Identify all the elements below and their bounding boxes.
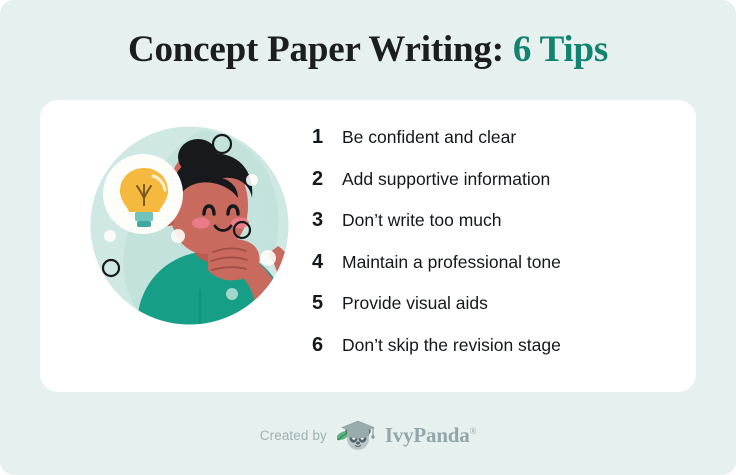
tip-number: 6: [312, 334, 342, 357]
poster-canvas: Concept Paper Writing: 6 Tips: [0, 0, 736, 475]
panda-graduate-icon: [336, 418, 376, 452]
brand-name: IvyPanda®: [385, 423, 476, 448]
tip-label: Don’t skip the revision stage: [342, 335, 561, 356]
list-item: 5 Provide visual aids: [312, 292, 682, 334]
tip-label: Provide visual aids: [342, 293, 488, 314]
tips-list: 1 Be confident and clear 2 Add supportiv…: [312, 126, 682, 375]
tip-label: Add supportive information: [342, 169, 550, 190]
content-card: 1 Be confident and clear 2 Add supportiv…: [40, 100, 696, 392]
tip-number: 2: [312, 168, 342, 191]
tip-label: Don’t write too much: [342, 210, 502, 231]
page-title: Concept Paper Writing: 6 Tips: [0, 28, 736, 71]
tip-label: Maintain a professional tone: [342, 252, 561, 273]
tip-number: 3: [312, 209, 342, 232]
brand-name-text: IvyPanda: [385, 423, 470, 447]
created-by-label: Created by: [260, 428, 327, 443]
tip-number: 4: [312, 251, 342, 274]
thinking-person-illustration: [82, 118, 297, 333]
list-item: 3 Don’t write too much: [312, 209, 682, 251]
thinking-person-with-lightbulb-icon: [82, 118, 297, 333]
page-title-main: Concept Paper Writing:: [128, 29, 504, 70]
tip-number: 5: [312, 292, 342, 315]
tip-label: Be confident and clear: [342, 127, 516, 148]
footer-attribution: Created by IvyPa: [0, 418, 736, 452]
trademark-mark: ®: [470, 426, 477, 436]
tip-number: 1: [312, 126, 342, 149]
list-item: 4 Maintain a professional tone: [312, 251, 682, 293]
list-item: 2 Add supportive information: [312, 168, 682, 210]
list-item: 6 Don’t skip the revision stage: [312, 334, 682, 376]
page-title-accent: 6 Tips: [513, 29, 608, 70]
list-item: 1 Be confident and clear: [312, 126, 682, 168]
